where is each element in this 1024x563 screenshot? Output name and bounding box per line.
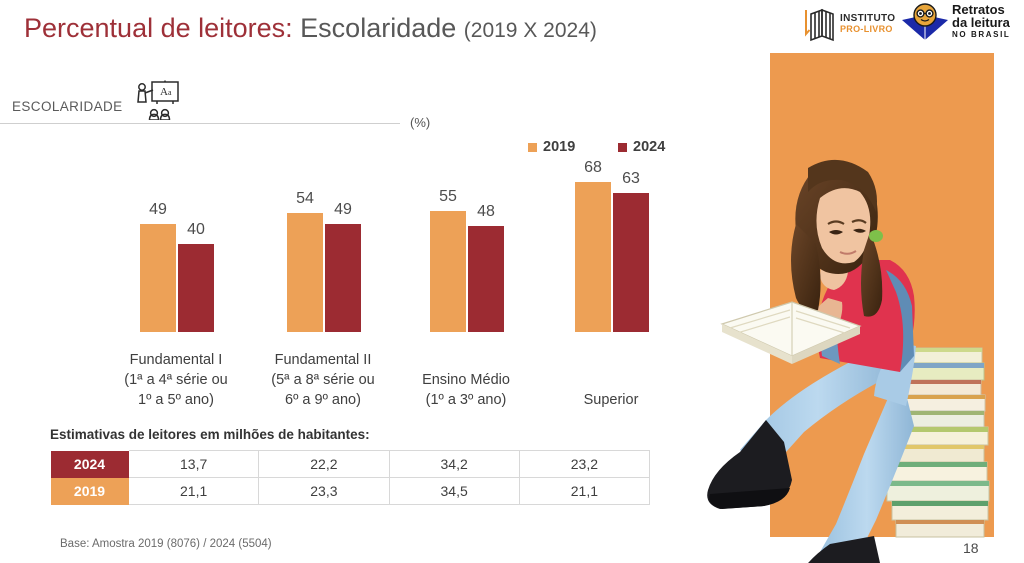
slide: Percentual de leitores: Escolaridade (20… <box>0 0 1024 563</box>
bar-value: 63 <box>622 170 640 188</box>
logo-group: INSTITUTO PRO-LIVRO Retratos da leitura … <box>802 2 1017 46</box>
table-row: 2024 13,7 22,2 34,2 23,2 <box>51 451 650 478</box>
svg-text:A: A <box>160 86 168 98</box>
table-cell: 13,7 <box>129 451 259 478</box>
table-cell: 21,1 <box>519 478 649 505</box>
bar-value: 49 <box>149 201 167 219</box>
page-number: 18 <box>963 540 979 556</box>
section-label: ESCOLARIDADE <box>12 99 123 114</box>
bar-value: 54 <box>296 190 314 208</box>
title-years: (2019 X 2024) <box>464 19 597 42</box>
bar-2024-ensino-medio: 48 <box>468 226 504 332</box>
table-cell: 34,2 <box>389 451 519 478</box>
title-subject: Escolaridade <box>300 13 456 43</box>
table-cell: 22,2 <box>259 451 389 478</box>
category-label-fundamental-1: Fundamental I (1ª a 4ª série ou 1º a 5º … <box>91 350 261 410</box>
instituto-pro-livro-logo: INSTITUTO PRO-LIVRO <box>802 4 894 44</box>
unit-label: (%) <box>410 115 430 130</box>
table-cell: 34,5 <box>389 478 519 505</box>
table-cell: 23,3 <box>259 478 389 505</box>
table-row-header-2024: 2024 <box>51 451 129 478</box>
bar-value: 55 <box>439 188 457 206</box>
title-main: Percentual de leitores: <box>24 13 293 43</box>
retratos-da-leitura-logo: Retratos da leitura NO BRASIL <box>900 2 1018 46</box>
bar-2024-superior: 63 <box>613 193 649 332</box>
bar-value: 40 <box>187 221 205 239</box>
bar-2024-fundamental-1: 40 <box>178 244 214 332</box>
bar-2019-fundamental-1: 49 <box>140 224 176 332</box>
table-row: 2019 21,1 23,3 34,5 21,1 <box>51 478 650 505</box>
teacher-blackboard-icon: A a <box>133 80 181 120</box>
table-title: Estimativas de leitores em milhões de ha… <box>50 427 370 442</box>
retratos-logo-line2: da leitura <box>952 17 1010 30</box>
bar-2019-ensino-medio: 55 <box>430 211 466 332</box>
category-label-superior: Superior <box>526 390 696 410</box>
instituto-logo-line2: PRO-LIVRO <box>840 24 895 35</box>
bar-value: 68 <box>584 159 602 177</box>
bar-2019-fundamental-2: 54 <box>287 213 323 332</box>
girl-reading-photo <box>700 120 1024 563</box>
bar-2024-fundamental-2: 49 <box>325 224 361 332</box>
table-cell: 21,1 <box>129 478 259 505</box>
open-book-face-icon <box>900 2 950 44</box>
header-divider <box>0 123 400 124</box>
table-row-header-2019: 2019 <box>51 478 129 505</box>
base-note: Base: Amostra 2019 (8076) / 2024 (5504) <box>60 538 272 550</box>
bar-chart: 49 40 54 49 55 48 68 63 Fundamental I (1… <box>0 150 700 410</box>
table-cell: 23,2 <box>519 451 649 478</box>
page-title: Percentual de leitores: Escolaridade (20… <box>24 10 597 49</box>
bar-value: 49 <box>334 201 352 219</box>
estimates-table: 2024 13,7 22,2 34,2 23,2 2019 21,1 23,3 … <box>50 450 650 505</box>
retratos-logo-line3: NO BRASIL <box>952 29 1010 42</box>
bar-2019-superior: 68 <box>575 182 611 332</box>
instituto-logo-line1: INSTITUTO <box>840 13 895 24</box>
bar-value: 48 <box>477 203 495 221</box>
svg-text:a: a <box>168 88 172 97</box>
books-stack-icon <box>802 4 842 44</box>
